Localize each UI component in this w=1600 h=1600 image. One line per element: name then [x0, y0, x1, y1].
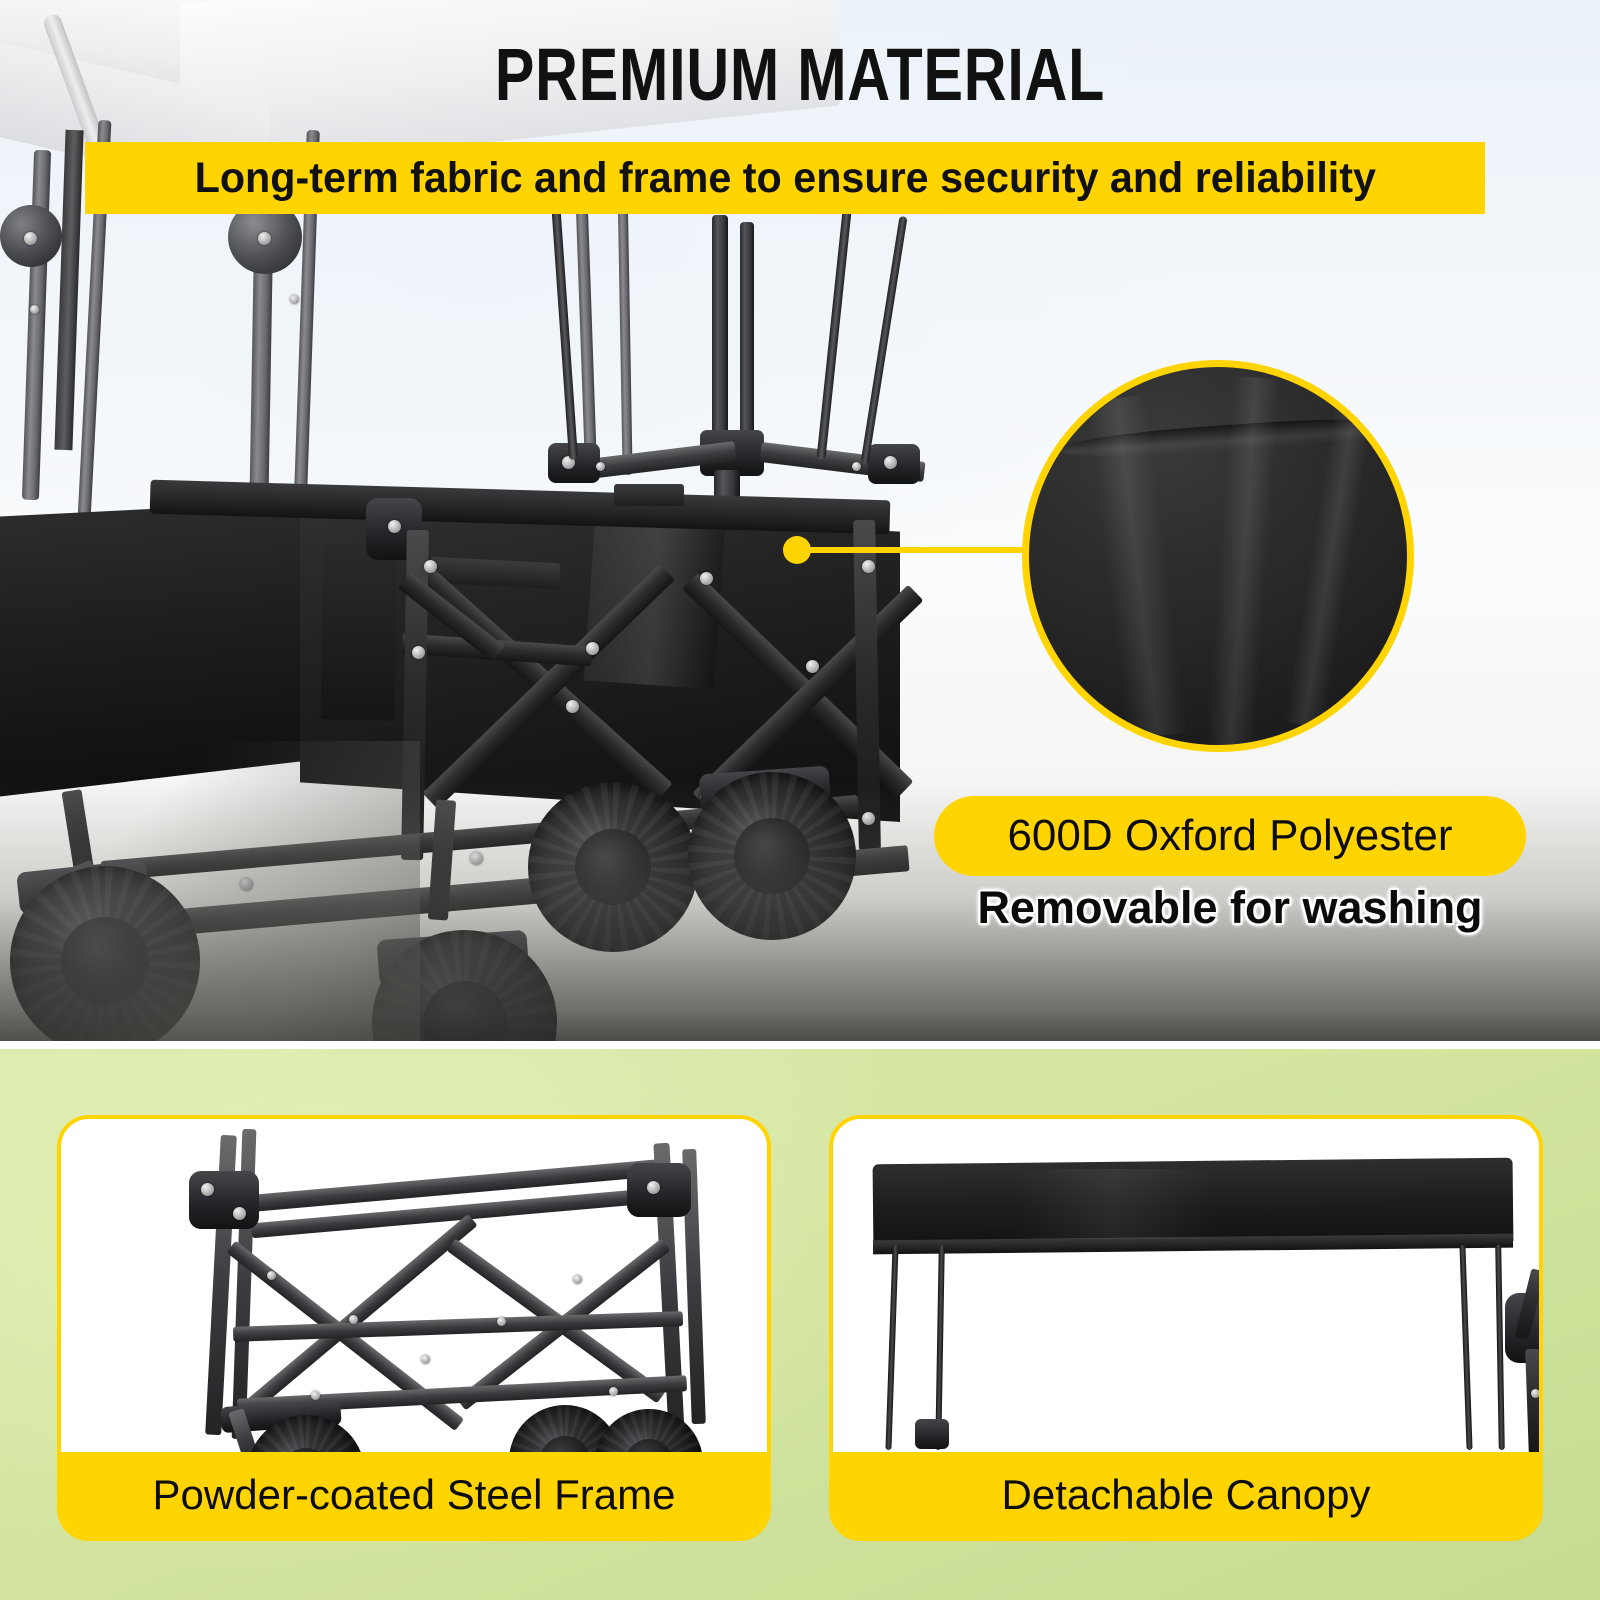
canopy-pivot-rivet-left: [24, 232, 37, 245]
canopy-stay-left: [551, 200, 578, 460]
x-frame-rivet-b: [412, 646, 425, 659]
x-frame-rivet-e: [806, 660, 819, 673]
fabric-fold: [1284, 406, 1374, 728]
feature-card-canopy[interactable]: Detachable Canopy: [829, 1115, 1543, 1541]
callout-connector-line: [797, 547, 1025, 553]
callout-anchor-dot: [783, 536, 811, 564]
canopy-pivot-rivet-mid: [258, 232, 271, 245]
premium-material-panel: PREMIUM MATERIAL Long-term fabric and fr…: [0, 0, 1600, 1041]
canopy-pole-right-2: [617, 175, 632, 475]
handle-tube-a: [712, 215, 728, 435]
page-title: PREMIUM MATERIAL: [160, 38, 1440, 112]
frame-rivet-2: [349, 1315, 358, 1324]
floor-shadow-left: [0, 741, 420, 1041]
steel-frame-image: [61, 1119, 767, 1460]
canopy-cover-sheen: [1013, 1169, 1213, 1239]
x-frame-rivet-a: [424, 560, 437, 573]
frame-mid-rail: [233, 1311, 683, 1342]
canopy-image: [833, 1119, 1539, 1460]
frame-hinge-right-rivet: [647, 1181, 660, 1194]
x-frame-rivet-c: [586, 642, 599, 655]
canopy-pole-3: [1459, 1245, 1472, 1450]
canopy-pole-1: [885, 1245, 898, 1450]
canopy-pole-right: [575, 170, 598, 480]
upper-arm-rivet-right-2: [852, 462, 861, 471]
basket-pocket-left: [320, 544, 397, 720]
feature-card-caption-text: Powder-coated Steel Frame: [153, 1471, 676, 1519]
feature-card-caption: Detachable Canopy: [833, 1452, 1539, 1537]
material-pill-badge: 600D Oxford Polyester: [934, 796, 1526, 876]
frame-rivet-7: [609, 1387, 618, 1396]
canopy-post-rivet: [1531, 1389, 1539, 1398]
canopy-foot-left: [915, 1419, 949, 1449]
frame-rivet-6: [311, 1391, 320, 1400]
features-panel: Powder-coated Steel Frame Detachable Can…: [0, 1049, 1600, 1600]
frame-hinge-left: [189, 1171, 259, 1229]
feature-card-steel-frame[interactable]: Powder-coated Steel Frame: [57, 1115, 771, 1541]
x-frame-rivet-center: [566, 700, 579, 713]
pole-rivet-1: [290, 295, 299, 304]
canopy-stay-right-2: [860, 216, 907, 464]
subtitle-banner-text: Long-term fabric and frame to ensure sec…: [194, 154, 1375, 203]
frame-hinge-rivet-b: [233, 1207, 246, 1220]
material-sub-caption: Removable for washing: [934, 882, 1526, 934]
upper-arm-rivet-left-2: [596, 462, 605, 471]
feature-card-caption-text: Detachable Canopy: [1002, 1471, 1371, 1519]
panel-divider: [0, 1041, 1600, 1049]
canopy-strap: [54, 130, 83, 450]
canopy-pole-4: [1495, 1245, 1505, 1450]
x-frame-rivet-g: [862, 560, 875, 573]
basket-corner-rivet: [388, 520, 401, 533]
fabric-closeup-circle: [1022, 360, 1414, 752]
canopy-stay-right: [816, 200, 852, 460]
upper-arm-rivet-right: [884, 456, 897, 469]
frame-rivet-4: [497, 1317, 506, 1326]
feature-card-caption: Powder-coated Steel Frame: [61, 1452, 767, 1537]
canopy-pole-left: [22, 150, 51, 500]
x-frame-rivet-d: [700, 572, 713, 585]
material-pill-label: 600D Oxford Polyester: [1007, 811, 1452, 861]
basket-webbing-strap-2: [614, 484, 684, 506]
pole-rivet-2: [30, 305, 39, 314]
frame-hinge-rivet-a: [201, 1183, 214, 1196]
canopy-hinge-post: [1525, 1349, 1539, 1454]
frame-rivet-3: [421, 1355, 430, 1364]
handle-tube-b: [740, 222, 754, 437]
subtitle-banner: Long-term fabric and frame to ensure sec…: [85, 142, 1485, 214]
frame-rivet-1: [267, 1271, 276, 1280]
frame-rivet-5: [573, 1275, 582, 1284]
